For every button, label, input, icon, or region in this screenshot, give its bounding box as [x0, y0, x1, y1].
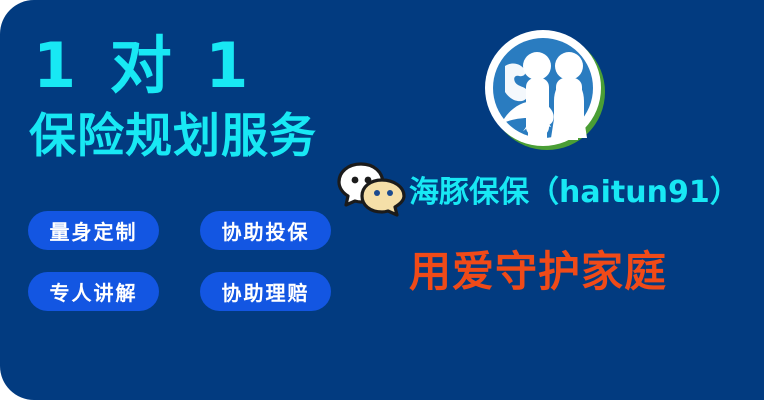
wechat-icon [337, 160, 407, 218]
feature-pill-tailored[interactable]: 量身定制 [28, 211, 159, 250]
promo-poster: 1 对 1 保险规划服务 量身定制 协助投保 专人讲解 协助理赔 [0, 0, 764, 400]
feature-pill-application-help[interactable]: 协助投保 [200, 211, 331, 250]
globe-family-dolphin-logo [483, 28, 607, 152]
headline-secondary: 保险规划服务 [29, 110, 317, 164]
headline-primary: 1 对 1 [33, 30, 254, 102]
feature-pill-grid: 量身定制 协助投保 专人讲解 协助理赔 [28, 211, 338, 311]
feature-pill-expert-explanation[interactable]: 专人讲解 [28, 272, 159, 311]
wechat-id-text: 海豚保保（haitun91） [409, 167, 740, 211]
feature-pill-claims-help[interactable]: 协助理赔 [200, 272, 331, 311]
wechat-contact-row[interactable]: 海豚保保（haitun91） [337, 160, 740, 218]
brand-slogan: 用爱守护家庭 [409, 248, 667, 296]
